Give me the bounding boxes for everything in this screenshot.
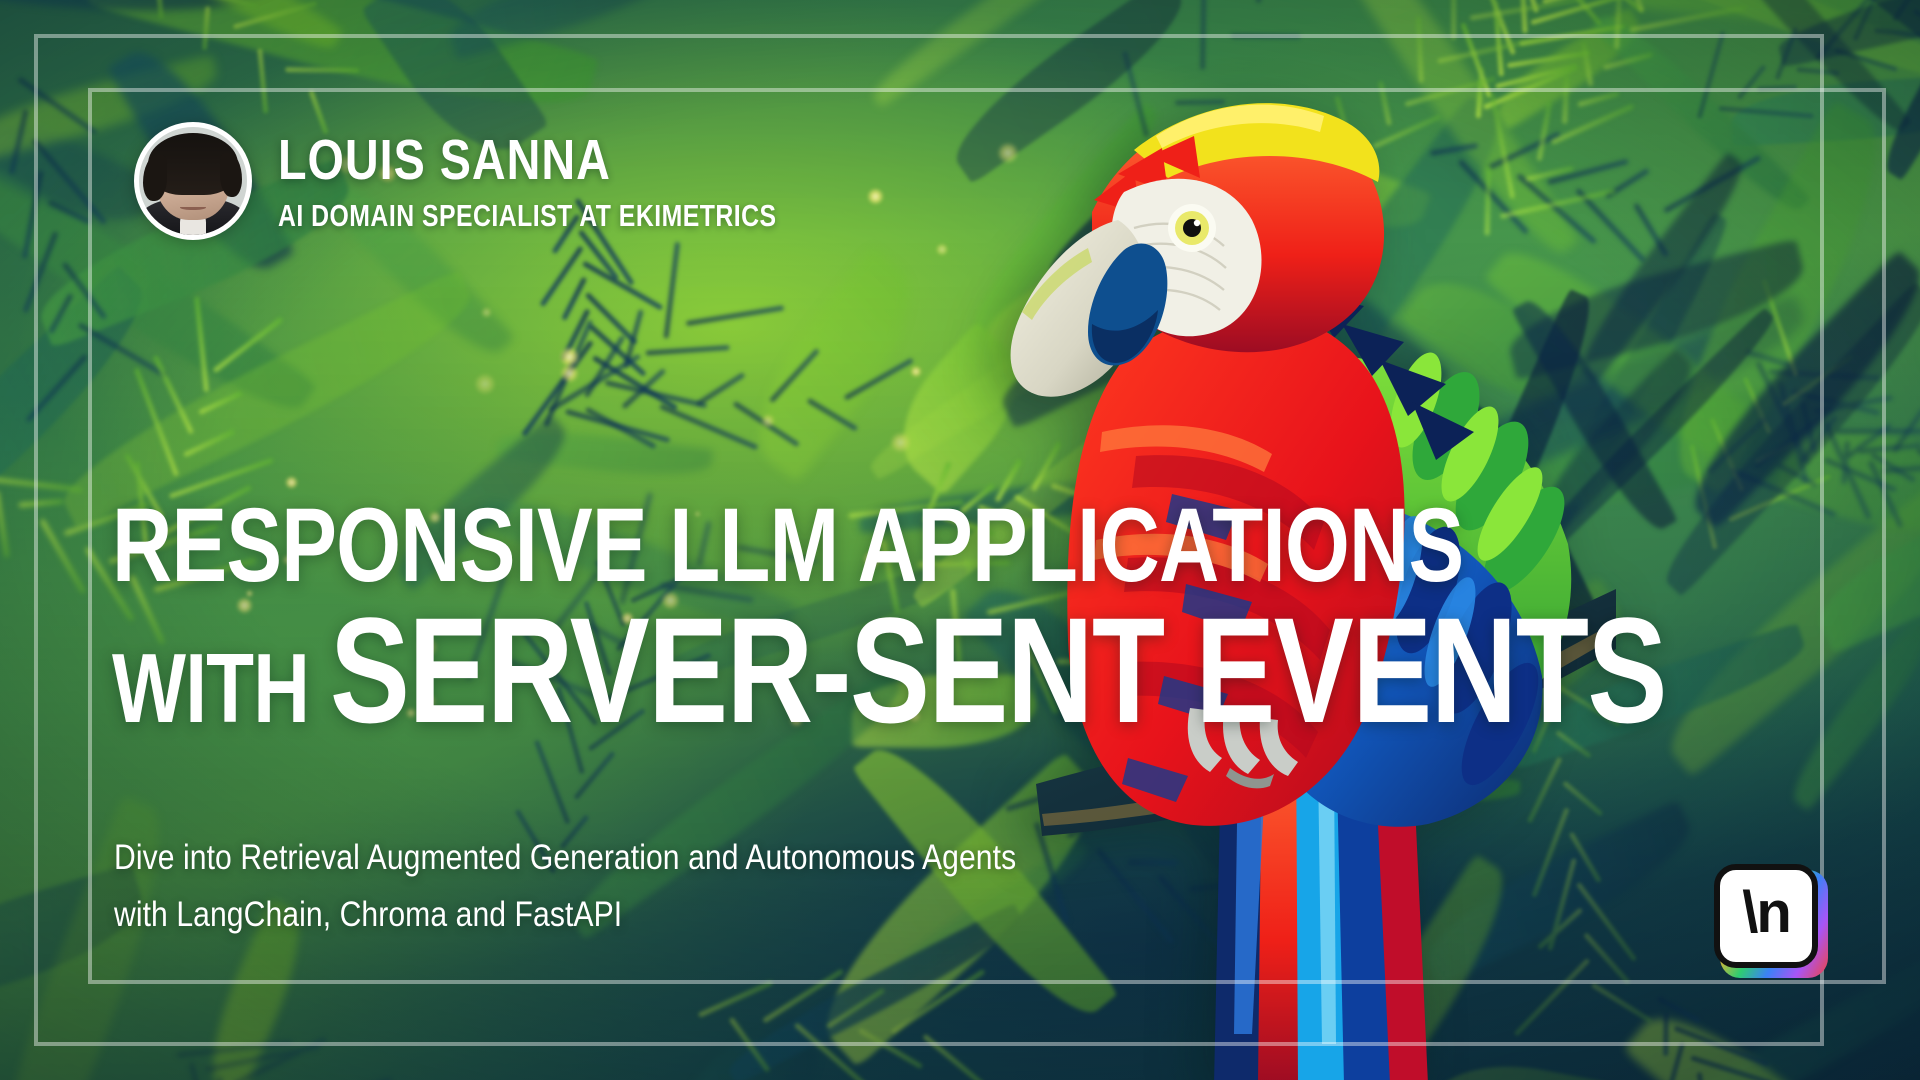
newline-logo: \n — [1714, 864, 1822, 972]
page-title: RESPONSIVE LLM APPLICATIONS WITH SERVER-… — [112, 498, 1920, 739]
subtitle-block: Dive into Retrieval Augmented Generation… — [114, 830, 1016, 943]
speaker-role: AI DOMAIN SPECIALIST AT EKIMETRICS — [278, 200, 777, 231]
avatar — [134, 122, 252, 240]
title-line-2-prefix: WITH — [112, 643, 309, 733]
title-line-1: RESPONSIVE LLM APPLICATIONS — [112, 498, 1656, 595]
newline-logo-glyph: \n — [1742, 884, 1790, 942]
title-line-2-main: SERVER-SENT EVENTS — [330, 601, 1666, 739]
subtitle-line-2: with LangChain, Chroma and FastAPI — [114, 887, 1016, 944]
newline-logo-card: \n — [1714, 864, 1818, 968]
subtitle-line-1: Dive into Retrieval Augmented Generation… — [114, 830, 1016, 887]
poster-canvas: LOUIS SANNA AI DOMAIN SPECIALIST AT EKIM… — [0, 0, 1920, 1080]
speaker-block: LOUIS SANNA AI DOMAIN SPECIALIST AT EKIM… — [134, 122, 901, 240]
title-line-2: WITH SERVER-SENT EVENTS — [112, 601, 1666, 739]
speaker-name: LOUIS SANNA — [278, 132, 789, 189]
